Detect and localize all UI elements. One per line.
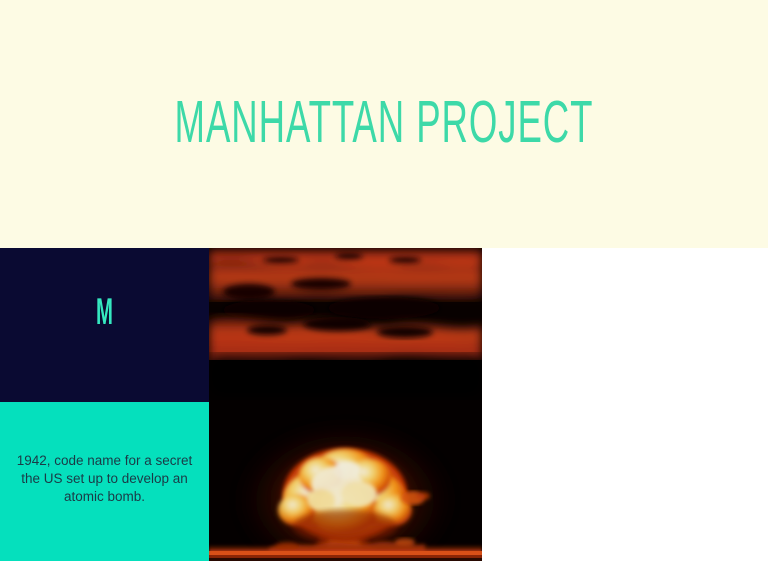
term-definition-panel: 1942, code name for a secret the US set … bbox=[0, 402, 209, 561]
detonation-photo bbox=[209, 248, 482, 561]
detonation-photo-graphic bbox=[209, 248, 482, 561]
term-definition-text: 1942, code name for a secret the US set … bbox=[12, 452, 197, 506]
term-letter-panel: M bbox=[0, 248, 209, 402]
page-title: MANHATTAN PROJECT bbox=[146, 91, 622, 153]
header-band: MANHATTAN PROJECT bbox=[0, 0, 768, 248]
term-letter: M bbox=[47, 293, 162, 330]
slide: MANHATTAN PROJECT M 1942, code name for … bbox=[0, 0, 768, 561]
